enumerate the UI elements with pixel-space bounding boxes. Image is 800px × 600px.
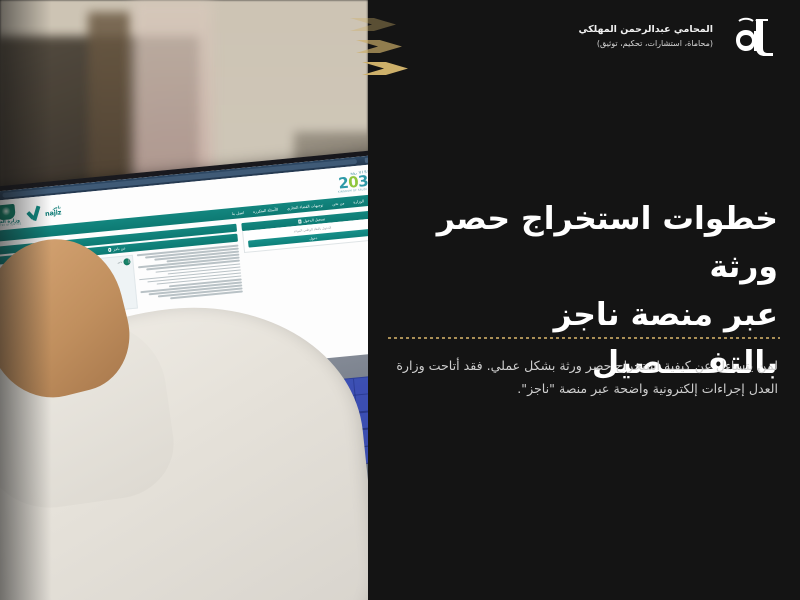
poster-canvas: VISION رؤية 2030 KINGDOM OF SAUDI ARABIA… [0,0,800,600]
content-panel: المحامي عبدالرحمن المهلكي (محاماة، استشا… [368,0,800,600]
chevron-3 [362,62,408,75]
subtitle: لمن يتساءل عن كيفية استخراج حصر ورثة بشك… [386,354,778,401]
kebab-menu-icon[interactable] [128,259,129,263]
lock-icon [298,220,301,224]
brand-text: المحامي عبدالرحمن المهلكي (محاماة، استشا… [578,23,713,50]
login-panel-title: تسجيل الدخول [303,217,325,223]
photo-panel: VISION رؤية 2030 KINGDOM OF SAUDI ARABIA… [0,0,368,600]
info-icon [108,248,111,252]
about-panel-title: عن ناجز [113,246,126,251]
najiz-check-icon [27,204,44,221]
subtitle-line-2: إجراءات إلكترونية واضحة عبر منصة "ناجز". [517,381,745,396]
login-column: تسجيل الدخول الدخول بالنفاذ الوطني الموح… [242,210,368,298]
ministry-of-justice-logo: وزارة العدل MINISTRY OF JUSTICE [0,203,22,228]
video-channel-name: ناجز [117,261,122,264]
nav-item-2[interactable]: توجيهات القضاء التجاري [287,203,324,210]
channel-avatar-icon [123,258,131,266]
nav-item-3[interactable]: الأسئلة المتكررة [253,207,278,213]
brand-services: (محاماة، استشارات، تحكيم، توثيق) [578,38,713,50]
header-brands: ناجز najiz وزارة العدل MINISTRY OF JUSTI… [0,199,62,228]
nav-item-0[interactable]: الوزارة [353,199,364,204]
al-monogram-logo [726,14,778,60]
vision-2030-logo: VISION رؤية 2030 KINGDOM OF SAUDI ARABIA [336,170,368,194]
najiz-wordmark: ناجز najiz [44,205,61,218]
brand-header: المحامي عبدالرحمن المهلكي (محاماة، استشا… [578,14,778,60]
najiz-latin: najiz [45,209,62,217]
nav-item-4[interactable]: اتصل بنا [232,210,245,215]
nav-item-1[interactable]: من نحن [332,201,344,206]
about-paragraph [137,245,244,309]
gold-dashed-divider [388,337,780,339]
brand-name: المحامي عبدالرحمن المهلكي [578,23,713,38]
headline-line-1: خطوات استخراج حصر ورثة [437,201,778,285]
najiz-logo[interactable]: ناجز najiz [27,202,62,221]
